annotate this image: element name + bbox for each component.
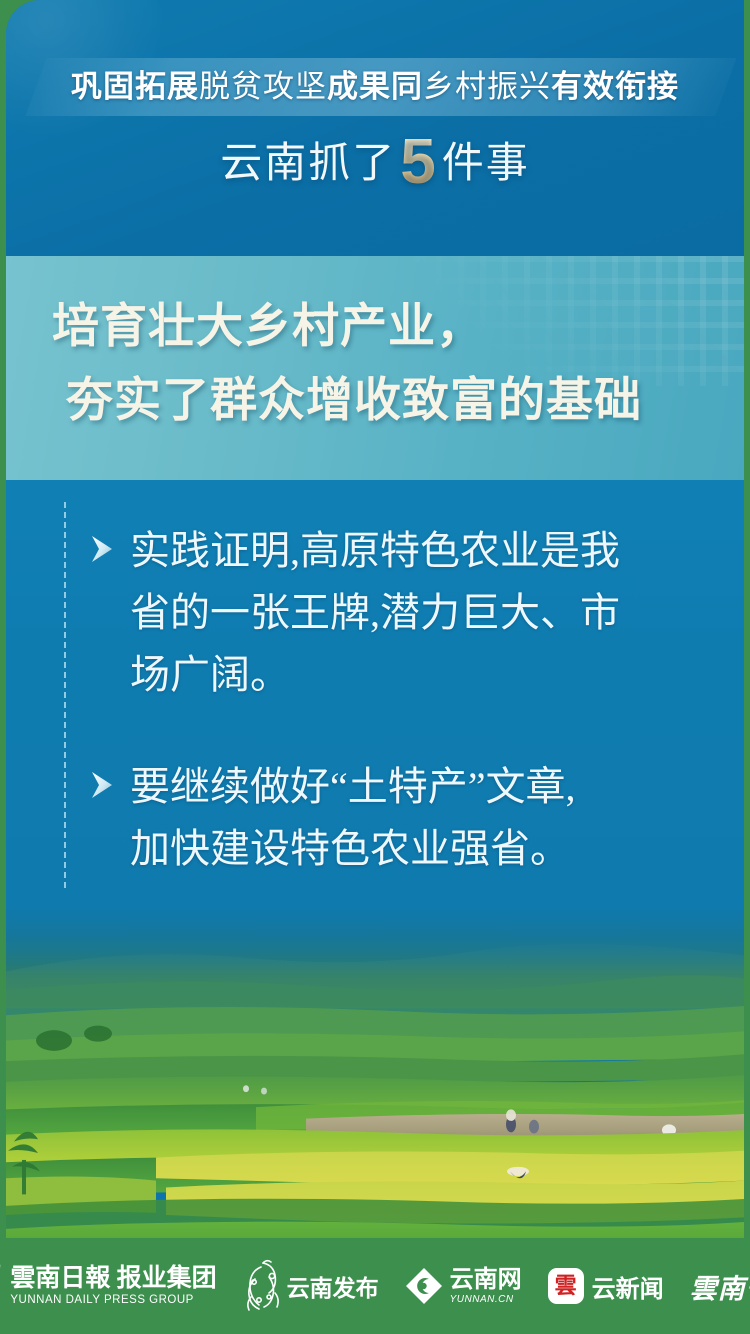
poster-card: 巩固拓展脱贫攻坚成果同乡村振兴有效衔接 云南抓了5件事 培育壮大乡村产业， 夯实… xyxy=(6,0,744,1292)
diamond-c-icon xyxy=(405,1267,443,1305)
list-item-text: 实践证明,高原特色农业是我 省的一张王牌,潜力巨大、市 场广阔。 xyxy=(130,520,620,706)
heading-line-2: 夯实了群众增收致富的基础 xyxy=(52,364,714,438)
chevron-right-icon xyxy=(90,770,116,800)
headline-prefix: 云南抓了 xyxy=(220,139,396,186)
kicker-seg-5: 有效衔接 xyxy=(551,69,679,104)
peacock-icon xyxy=(243,1257,283,1315)
logo-label-cn: 云南发布 xyxy=(287,1269,379,1303)
logo-label-cn: 云南网 xyxy=(450,1267,522,1293)
bullet-1-line-0: 要继续做好“土特产”文章, xyxy=(130,764,576,809)
logo-yunnan-fabu[interactable]: 云南发布 xyxy=(243,1255,379,1317)
terraced-rice-fields-photo xyxy=(6,905,744,1292)
kicker-seg-1: 巩固拓展 xyxy=(71,69,199,104)
headline-count: 云南抓了5件事 xyxy=(6,128,744,196)
headline-number: 5 xyxy=(396,125,442,197)
bullet-body: 实践证明,高原特色农业是我 省的一张王牌,潜力巨大、市 场广阔。 xyxy=(6,480,744,920)
logo-label-en: YUNNAN DAILY PRESS GROUP xyxy=(10,1293,216,1308)
poster-root: 巩固拓展脱贫攻坚成果同乡村振兴有效衔接 云南抓了5件事 培育壮大乡村产业， 夯实… xyxy=(0,0,750,1334)
photo-top-fade xyxy=(6,905,744,975)
chevron-right-icon xyxy=(90,534,116,564)
bullet-0-line-2: 场广阔。 xyxy=(130,652,290,697)
heading-slab: 培育壮大乡村产业， 夯实了群众增收致富的基础 xyxy=(6,256,744,480)
bullet-0-line-1: 省的一张王牌,潜力巨大、市 xyxy=(130,590,620,635)
heading-line-1: 培育壮大乡村产业， xyxy=(52,290,714,364)
cup-icon xyxy=(0,1263,2,1309)
logo-yunnan-hao[interactable]: 雲南号 xyxy=(690,1255,750,1317)
logo-label-cn: 雲南号 xyxy=(690,1267,750,1306)
logo-yunnan-net[interactable]: 云南网 YUNNAN.CN xyxy=(405,1255,522,1317)
kicker-line: 巩固拓展脱贫攻坚成果同乡村振兴有效衔接 xyxy=(6,62,744,112)
bullet-0-line-0: 实践证明,高原特色农业是我 xyxy=(130,528,620,573)
list-item-text: 要继续做好“土特产”文章, 加快建设特色农业强省。 xyxy=(130,756,576,880)
logo-yunnan-daily-press-group[interactable]: 雲南日報 报业集团 YUNNAN DAILY PRESS GROUP xyxy=(0,1255,217,1317)
kicker-seg-2: 脱贫攻坚 xyxy=(199,69,327,104)
logo-yun-news[interactable]: 雲 云新闻 xyxy=(548,1255,664,1317)
footer-logo-bar: 雲南日報 报业集团 YUNNAN DAILY PRESS GROUP xyxy=(0,1238,750,1334)
app-yun-icon: 雲 xyxy=(548,1268,584,1304)
kicker-seg-4: 乡村振兴 xyxy=(423,69,551,104)
dashed-guide-line xyxy=(64,502,66,888)
section-heading: 培育壮大乡村产业， 夯实了群众增收致富的基础 xyxy=(52,290,714,438)
logo-label-cn: 云新闻 xyxy=(592,1269,664,1304)
logo-label-cn: 雲南日報 报业集团 xyxy=(10,1265,216,1293)
list-item: 实践证明,高原特色农业是我 省的一张王牌,潜力巨大、市 场广阔。 xyxy=(90,520,710,706)
header-band: 巩固拓展脱贫攻坚成果同乡村振兴有效衔接 云南抓了5件事 xyxy=(6,0,744,256)
list-item: 要继续做好“土特产”文章, 加快建设特色农业强省。 xyxy=(90,756,710,880)
bullet-1-line-1: 加快建设特色农业强省。 xyxy=(130,826,570,871)
kicker-seg-3: 成果同 xyxy=(327,69,423,104)
logo-label-en: YUNNAN.CN xyxy=(450,1293,522,1306)
headline-suffix: 件事 xyxy=(442,139,530,186)
